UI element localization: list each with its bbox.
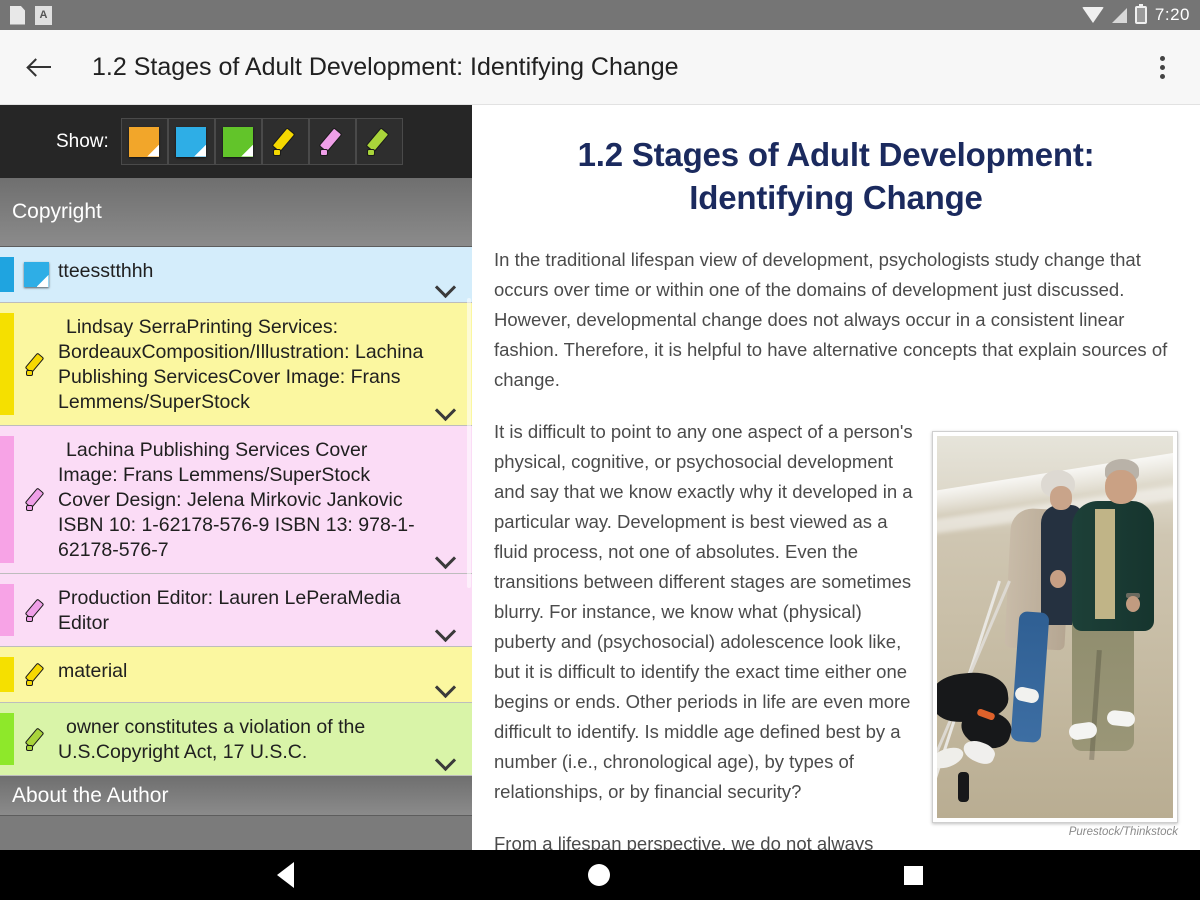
document-flow: It is difficult to point to any one aspe…: [494, 417, 1178, 850]
annotation-color-bar: [0, 657, 14, 692]
android-navigation-bar: [0, 850, 1200, 900]
annotation-list-item[interactable]: material: [0, 647, 472, 703]
nav-recents-icon[interactable]: [904, 866, 923, 885]
annotation-color-bar: [0, 584, 14, 636]
note-blue-icon: [176, 127, 206, 157]
annotation-text: material: [58, 657, 428, 692]
overflow-menu-button[interactable]: [1140, 43, 1184, 91]
archive-icon: A: [35, 6, 52, 25]
annotations-sidebar: Show:: [0, 105, 472, 850]
highlighter-pink-icon: [316, 126, 348, 158]
overflow-menu-icon: [1160, 74, 1165, 79]
android-app-window: A 7:20 1.2 Stages of Adult Development: …: [0, 0, 1200, 900]
annotation-list-item[interactable]: Production Editor: Lauren LePeraMedia Ed…: [0, 574, 472, 647]
filter-chip-pen-lime[interactable]: [356, 118, 403, 165]
filter-chip-pen-yellow[interactable]: [262, 118, 309, 165]
highlighter-yellow-icon: [269, 126, 301, 158]
status-bar-notifications: A: [10, 6, 52, 25]
chevron-down-icon[interactable]: [436, 403, 458, 415]
annotation-list-item[interactable]: Lachina Publishing Services Cover Image:…: [0, 426, 472, 574]
wifi-icon: [1082, 7, 1104, 23]
document-text-column: It is difficult to point to any one aspe…: [494, 417, 914, 850]
note-blue-icon: [24, 262, 49, 287]
annotation-color-bar: [0, 436, 14, 563]
annotation-type-icon: [14, 257, 58, 292]
sidebar-scrollbar-thumb[interactable]: [467, 298, 471, 588]
highlighter-yellow-icon: [23, 351, 50, 378]
annotation-filter-bar: Show:: [0, 105, 472, 178]
annotation-color-bar: [0, 313, 14, 415]
highlighter-pink-icon: [23, 597, 50, 624]
highlighter-lime-icon: [363, 126, 395, 158]
annotation-text: Production Editor: Lauren LePeraMedia Ed…: [58, 584, 428, 636]
annotation-list-item[interactable]: Lindsay SerraPrinting Services: Bordeaux…: [0, 303, 472, 426]
page-title: 1.2 Stages of Adult Development: Identif…: [92, 53, 679, 82]
filter-chip-note-blue[interactable]: [168, 118, 215, 165]
app-bar: 1.2 Stages of Adult Development: Identif…: [0, 30, 1200, 105]
overflow-menu-icon: [1160, 56, 1165, 61]
section-header-about-the-author[interactable]: About the Author: [0, 776, 472, 816]
filter-chip-note-green[interactable]: [215, 118, 262, 165]
chevron-down-icon[interactable]: [436, 280, 458, 292]
filter-chip-note-orange[interactable]: [121, 118, 168, 165]
back-arrow-icon: [27, 54, 53, 80]
overflow-menu-icon: [1160, 65, 1165, 70]
chevron-down-icon[interactable]: [436, 551, 458, 563]
filter-chip-group: [121, 118, 403, 165]
chevron-down-icon[interactable]: [436, 624, 458, 636]
document-paragraph: It is difficult to point to any one aspe…: [494, 417, 914, 807]
annotation-color-bar: [0, 257, 14, 292]
note-green-icon: [223, 127, 253, 157]
annotation-type-icon: [14, 713, 58, 765]
status-bar-system-icons: 7:20: [1082, 5, 1190, 25]
annotation-type-icon: [14, 313, 58, 415]
battery-icon: [1135, 6, 1147, 24]
status-bar: A 7:20: [0, 0, 1200, 30]
figure-image: [932, 431, 1178, 823]
annotation-color-bar: [0, 713, 14, 765]
annotation-list-item[interactable]: owner constitutes a violation of the U.S…: [0, 703, 472, 776]
annotation-type-icon: [14, 584, 58, 636]
nav-back-icon[interactable]: [277, 862, 294, 888]
document-icon: [10, 6, 25, 25]
nav-home-icon[interactable]: [588, 864, 610, 886]
chevron-down-icon[interactable]: [436, 753, 458, 765]
chevron-down-icon[interactable]: [436, 680, 458, 692]
document-figure-column: Purestock/Thinkstock According to Erikso…: [932, 417, 1178, 850]
beach-couple-dog-photo: [937, 436, 1173, 818]
figure-credit: Purestock/Thinkstock: [932, 826, 1178, 838]
annotation-type-icon: [14, 436, 58, 563]
annotation-text: Lachina Publishing Services Cover Image:…: [58, 436, 428, 563]
annotation-type-icon: [14, 657, 58, 692]
show-label: Show:: [56, 131, 109, 153]
section-header-copyright[interactable]: Copyright: [0, 178, 472, 247]
filter-chip-pen-pink[interactable]: [309, 118, 356, 165]
content-split: Show:: [0, 105, 1200, 850]
annotation-list-item[interactable]: tteesstthhh: [0, 247, 472, 303]
annotation-text: owner constitutes a violation of the U.S…: [58, 713, 428, 765]
annotation-text: tteesstthhh: [58, 257, 428, 292]
back-button[interactable]: [16, 43, 64, 91]
annotation-text: Lindsay SerraPrinting Services: Bordeaux…: [58, 313, 428, 415]
note-orange-icon: [129, 127, 159, 157]
highlighter-yellow-icon: [23, 661, 50, 688]
highlighter-lime-icon: [23, 726, 50, 753]
status-bar-clock: 7:20: [1155, 5, 1190, 25]
signal-icon: [1112, 8, 1127, 23]
highlighter-pink-icon: [23, 486, 50, 513]
document-content-pane[interactable]: 1.2 Stages of Adult Development: Identif…: [472, 105, 1200, 850]
document-title: 1.2 Stages of Adult Development: Identif…: [524, 133, 1148, 219]
document-paragraph: From a lifespan perspective, we do not a…: [494, 829, 914, 850]
document-paragraph: In the traditional lifespan view of deve…: [494, 245, 1178, 395]
